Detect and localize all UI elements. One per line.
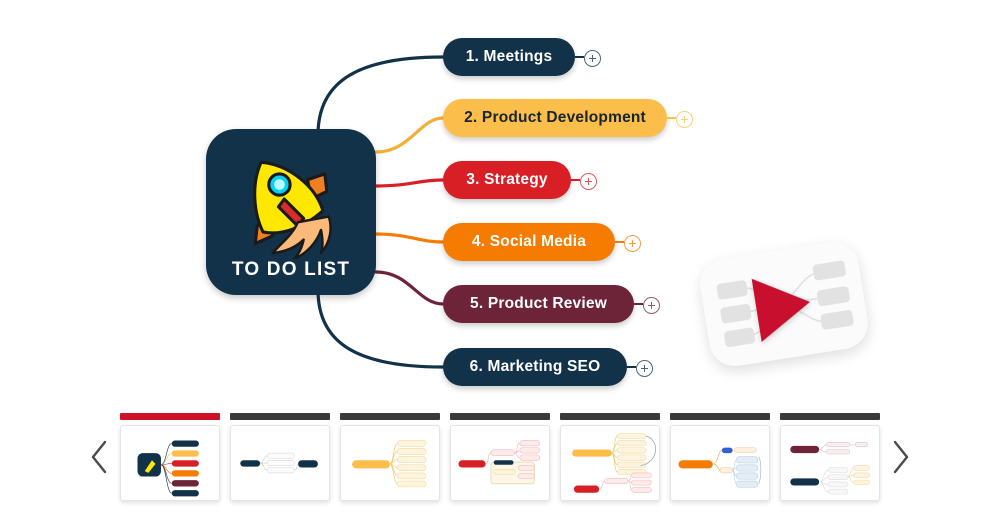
slide-carousel	[0, 400, 1000, 514]
branch-node-label: 6. Marketing SEO	[470, 358, 601, 376]
carousel-next-button[interactable]	[880, 427, 922, 487]
chevron-right-icon	[891, 440, 911, 474]
branch-expand-badge-1[interactable]	[584, 50, 601, 67]
branch-node-4[interactable]: 4. Social Media	[443, 223, 615, 261]
expand-icon	[641, 365, 648, 372]
carousel-thumbnail[interactable]	[450, 413, 550, 501]
central-node[interactable]: TO DO LIST	[206, 129, 376, 295]
branch-expand-badge-2[interactable]	[676, 111, 693, 128]
slide-product-dev-strategy	[560, 425, 660, 501]
branch-badge-stem	[634, 303, 643, 305]
rocket-icon	[234, 143, 350, 259]
carousel-thumbnail[interactable]	[560, 413, 660, 501]
branch-expand-badge-5[interactable]	[643, 297, 660, 314]
carousel-thumbnail[interactable]	[230, 413, 330, 501]
branch-node-label: 3. Strategy	[466, 171, 547, 189]
thumbnail-indicator-bar	[780, 413, 880, 420]
branch-node-2[interactable]: 2. Product Development	[443, 99, 667, 137]
branch-expand-badge-6[interactable]	[636, 360, 653, 377]
slide-strategy	[450, 425, 550, 501]
branch-node-label: 1. Meetings	[466, 48, 553, 66]
slide-social-media	[670, 425, 770, 501]
branch-node-5[interactable]: 5. Product Review	[443, 285, 634, 323]
chevron-left-icon	[89, 440, 109, 474]
branch-node-6[interactable]: 6. Marketing SEO	[443, 348, 627, 386]
branch-badge-stem	[615, 241, 624, 243]
expand-icon	[681, 116, 688, 123]
slide-product-development	[340, 425, 440, 501]
slide-review-seo	[780, 425, 880, 501]
branch-node-label: 5. Product Review	[470, 295, 607, 313]
carousel-thumbnail[interactable]	[670, 413, 770, 501]
play-icon[interactable]	[752, 270, 815, 342]
branch-expand-badge-3[interactable]	[580, 173, 597, 190]
thumbnail-indicator-bar	[450, 413, 550, 420]
thumbnail-indicator-bar	[670, 413, 770, 420]
branch-badge-stem	[575, 56, 584, 58]
expand-icon	[589, 55, 596, 62]
branch-node-label: 2. Product Development	[464, 109, 646, 127]
branch-node-label: 4. Social Media	[472, 233, 586, 251]
mindmap-canvas[interactable]: TO DO LIST 1. Meetings2. Product Develop…	[0, 0, 1000, 400]
mindmap-screen: TO DO LIST 1. Meetings2. Product Develop…	[0, 0, 1000, 514]
branch-badge-stem	[667, 117, 676, 119]
branch-badge-stem	[627, 366, 636, 368]
carousel-thumbnail[interactable]	[120, 413, 220, 501]
thumbnail-indicator-bar	[340, 413, 440, 420]
expand-icon	[648, 302, 655, 309]
thumbnail-indicator-bar	[120, 413, 220, 420]
branch-expand-badge-4[interactable]	[624, 235, 641, 252]
carousel-thumbnail[interactable]	[780, 413, 880, 501]
carousel-thumbnails	[120, 413, 880, 501]
thumbnail-indicator-bar	[230, 413, 330, 420]
carousel-thumbnail[interactable]	[340, 413, 440, 501]
branch-node-3[interactable]: 3. Strategy	[443, 161, 571, 199]
carousel-prev-button[interactable]	[78, 427, 120, 487]
branch-badge-stem	[571, 179, 580, 181]
thumbnail-indicator-bar	[560, 413, 660, 420]
expand-icon	[585, 178, 592, 185]
central-node-label: TO DO LIST	[232, 259, 350, 281]
slide-meetings	[230, 425, 330, 501]
expand-icon	[629, 240, 636, 247]
branch-node-1[interactable]: 1. Meetings	[443, 38, 575, 76]
slide-overview	[120, 425, 220, 501]
